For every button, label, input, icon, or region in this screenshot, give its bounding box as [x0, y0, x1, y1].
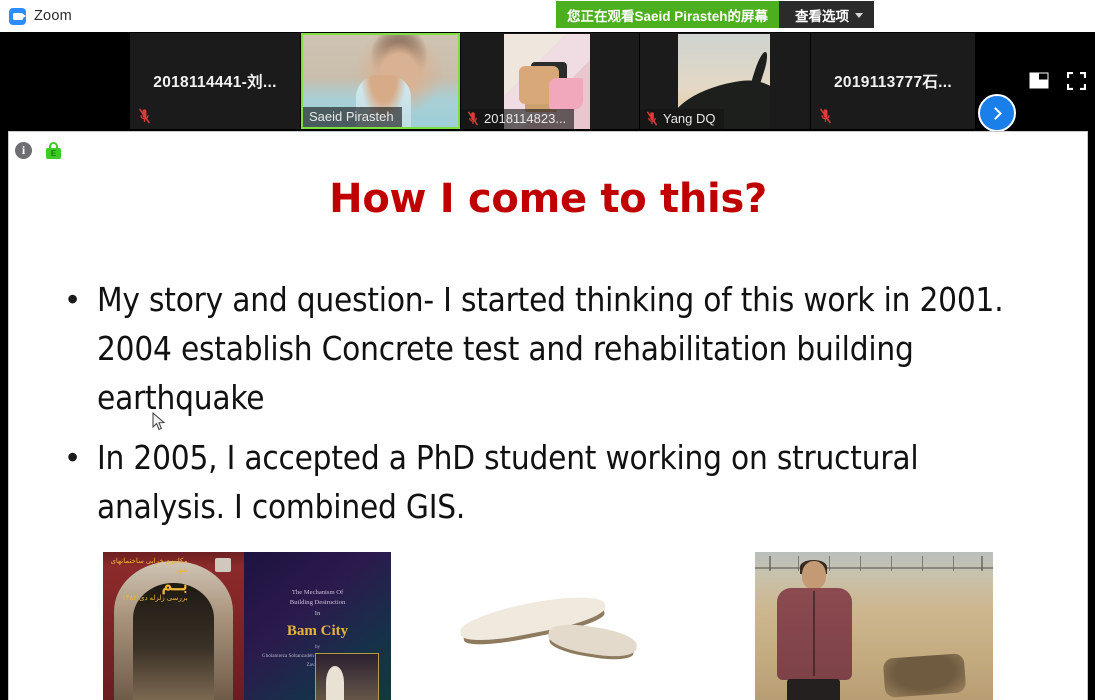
publisher-logo-icon: [215, 558, 231, 572]
mic-muted-icon: [646, 111, 658, 126]
window-title-bar: Zoom 您正在观看Saeid Pirasteh的屏幕 查看选项: [0, 0, 1095, 32]
slide-image-book-cover: مکانیزم خرابی ساختمانهای شهر بــم بررسی …: [103, 552, 391, 700]
slide-image-rubble: [443, 552, 705, 700]
participant-name: 2018114823...: [484, 111, 566, 126]
mouse-pointer-icon: [152, 412, 166, 432]
bullet-text: In 2005, I accepted a PhD student workin…: [97, 433, 1047, 531]
book-title-line2: Building Destruction: [262, 598, 374, 609]
participant-tile-0[interactable]: 2018114441-刘...: [130, 33, 300, 129]
participant-filmstrip: 2018114441-刘... Saeid Pirasteh: [0, 32, 1095, 130]
bullet-text: My story and question- I started thinkin…: [97, 275, 1047, 422]
book-inset-photo: [315, 653, 380, 700]
participant-name-chip: 2018114823...: [461, 109, 574, 129]
window-controls: [1029, 72, 1086, 90]
participant-tile-4[interactable]: 2019113777石...: [811, 33, 975, 129]
participant-name: 2019113777石...: [811, 70, 975, 92]
participant-name: Saeid Pirasteh: [309, 109, 394, 124]
mic-muted-icon: [138, 108, 151, 124]
share-banner-text: 您正在观看Saeid Pirasteh的屏幕: [556, 1, 779, 28]
participant-tile-1-active-speaker[interactable]: Saeid Pirasteh: [301, 33, 460, 129]
sharing-status-banner: 您正在观看Saeid Pirasteh的屏幕 查看选项: [556, 1, 874, 28]
bullet-item: • My story and question- I started think…: [67, 275, 1047, 422]
book-persian-title: بــم: [109, 576, 188, 594]
participant-tile-3[interactable]: Yang DQ: [640, 33, 810, 129]
next-participants-button[interactable]: [978, 94, 1016, 132]
book-city-name: Bam City: [262, 623, 374, 640]
bullet-marker: •: [67, 433, 97, 531]
participant-name-chip: Yang DQ: [640, 109, 724, 129]
book-by-label: by: [262, 643, 374, 652]
book-persian-top: مکانیزم خرابی ساختمانهای شهر: [110, 558, 187, 574]
slide-image-row: مکانیزم خرابی ساختمانهای شهر بــم بررسی …: [9, 552, 1087, 700]
book-persian-sub: بررسی زلزله دی ۱۳۸۲: [122, 595, 188, 602]
fullscreen-icon[interactable]: [1067, 72, 1086, 90]
book-title-line1: The Mechanism Of: [262, 588, 374, 599]
participant-name: 2018114441-刘...: [130, 70, 300, 92]
book-title-line3: In: [262, 609, 374, 620]
bullet-item: • In 2005, I accepted a PhD student work…: [67, 433, 1047, 531]
slide-bullet-list: • My story and question- I started think…: [67, 275, 1047, 539]
participant-tile-2[interactable]: 2018114823...: [461, 33, 639, 129]
shared-screen-content: i E How I come to this? • My story and q…: [8, 131, 1088, 700]
slide-image-field-site: [755, 552, 993, 700]
view-options-button[interactable]: 查看选项: [779, 1, 874, 28]
mic-muted-icon: [467, 111, 479, 126]
picture-in-picture-icon[interactable]: [1029, 72, 1049, 89]
presentation-slide: How I come to this? • My story and quest…: [9, 132, 1087, 700]
chevron-right-icon: [989, 107, 1002, 120]
bullet-marker: •: [67, 275, 97, 422]
slide-title: How I come to this?: [9, 176, 1087, 222]
zoom-meeting-window: Zoom 您正在观看Saeid Pirasteh的屏幕 查看选项 2018114…: [0, 0, 1095, 700]
person-figure: [774, 561, 855, 700]
participant-name-chip: Saeid Pirasteh: [303, 107, 402, 127]
book-persian-text: مکانیزم خرابی ساختمانهای شهر بــم بررسی …: [109, 558, 188, 604]
chevron-down-icon: [855, 13, 863, 18]
view-options-label: 查看选项: [795, 5, 849, 25]
zoom-camera-icon: [9, 8, 26, 25]
participant-name: Yang DQ: [663, 111, 716, 126]
app-title: Zoom: [34, 8, 72, 24]
mic-muted-icon: [819, 108, 832, 124]
